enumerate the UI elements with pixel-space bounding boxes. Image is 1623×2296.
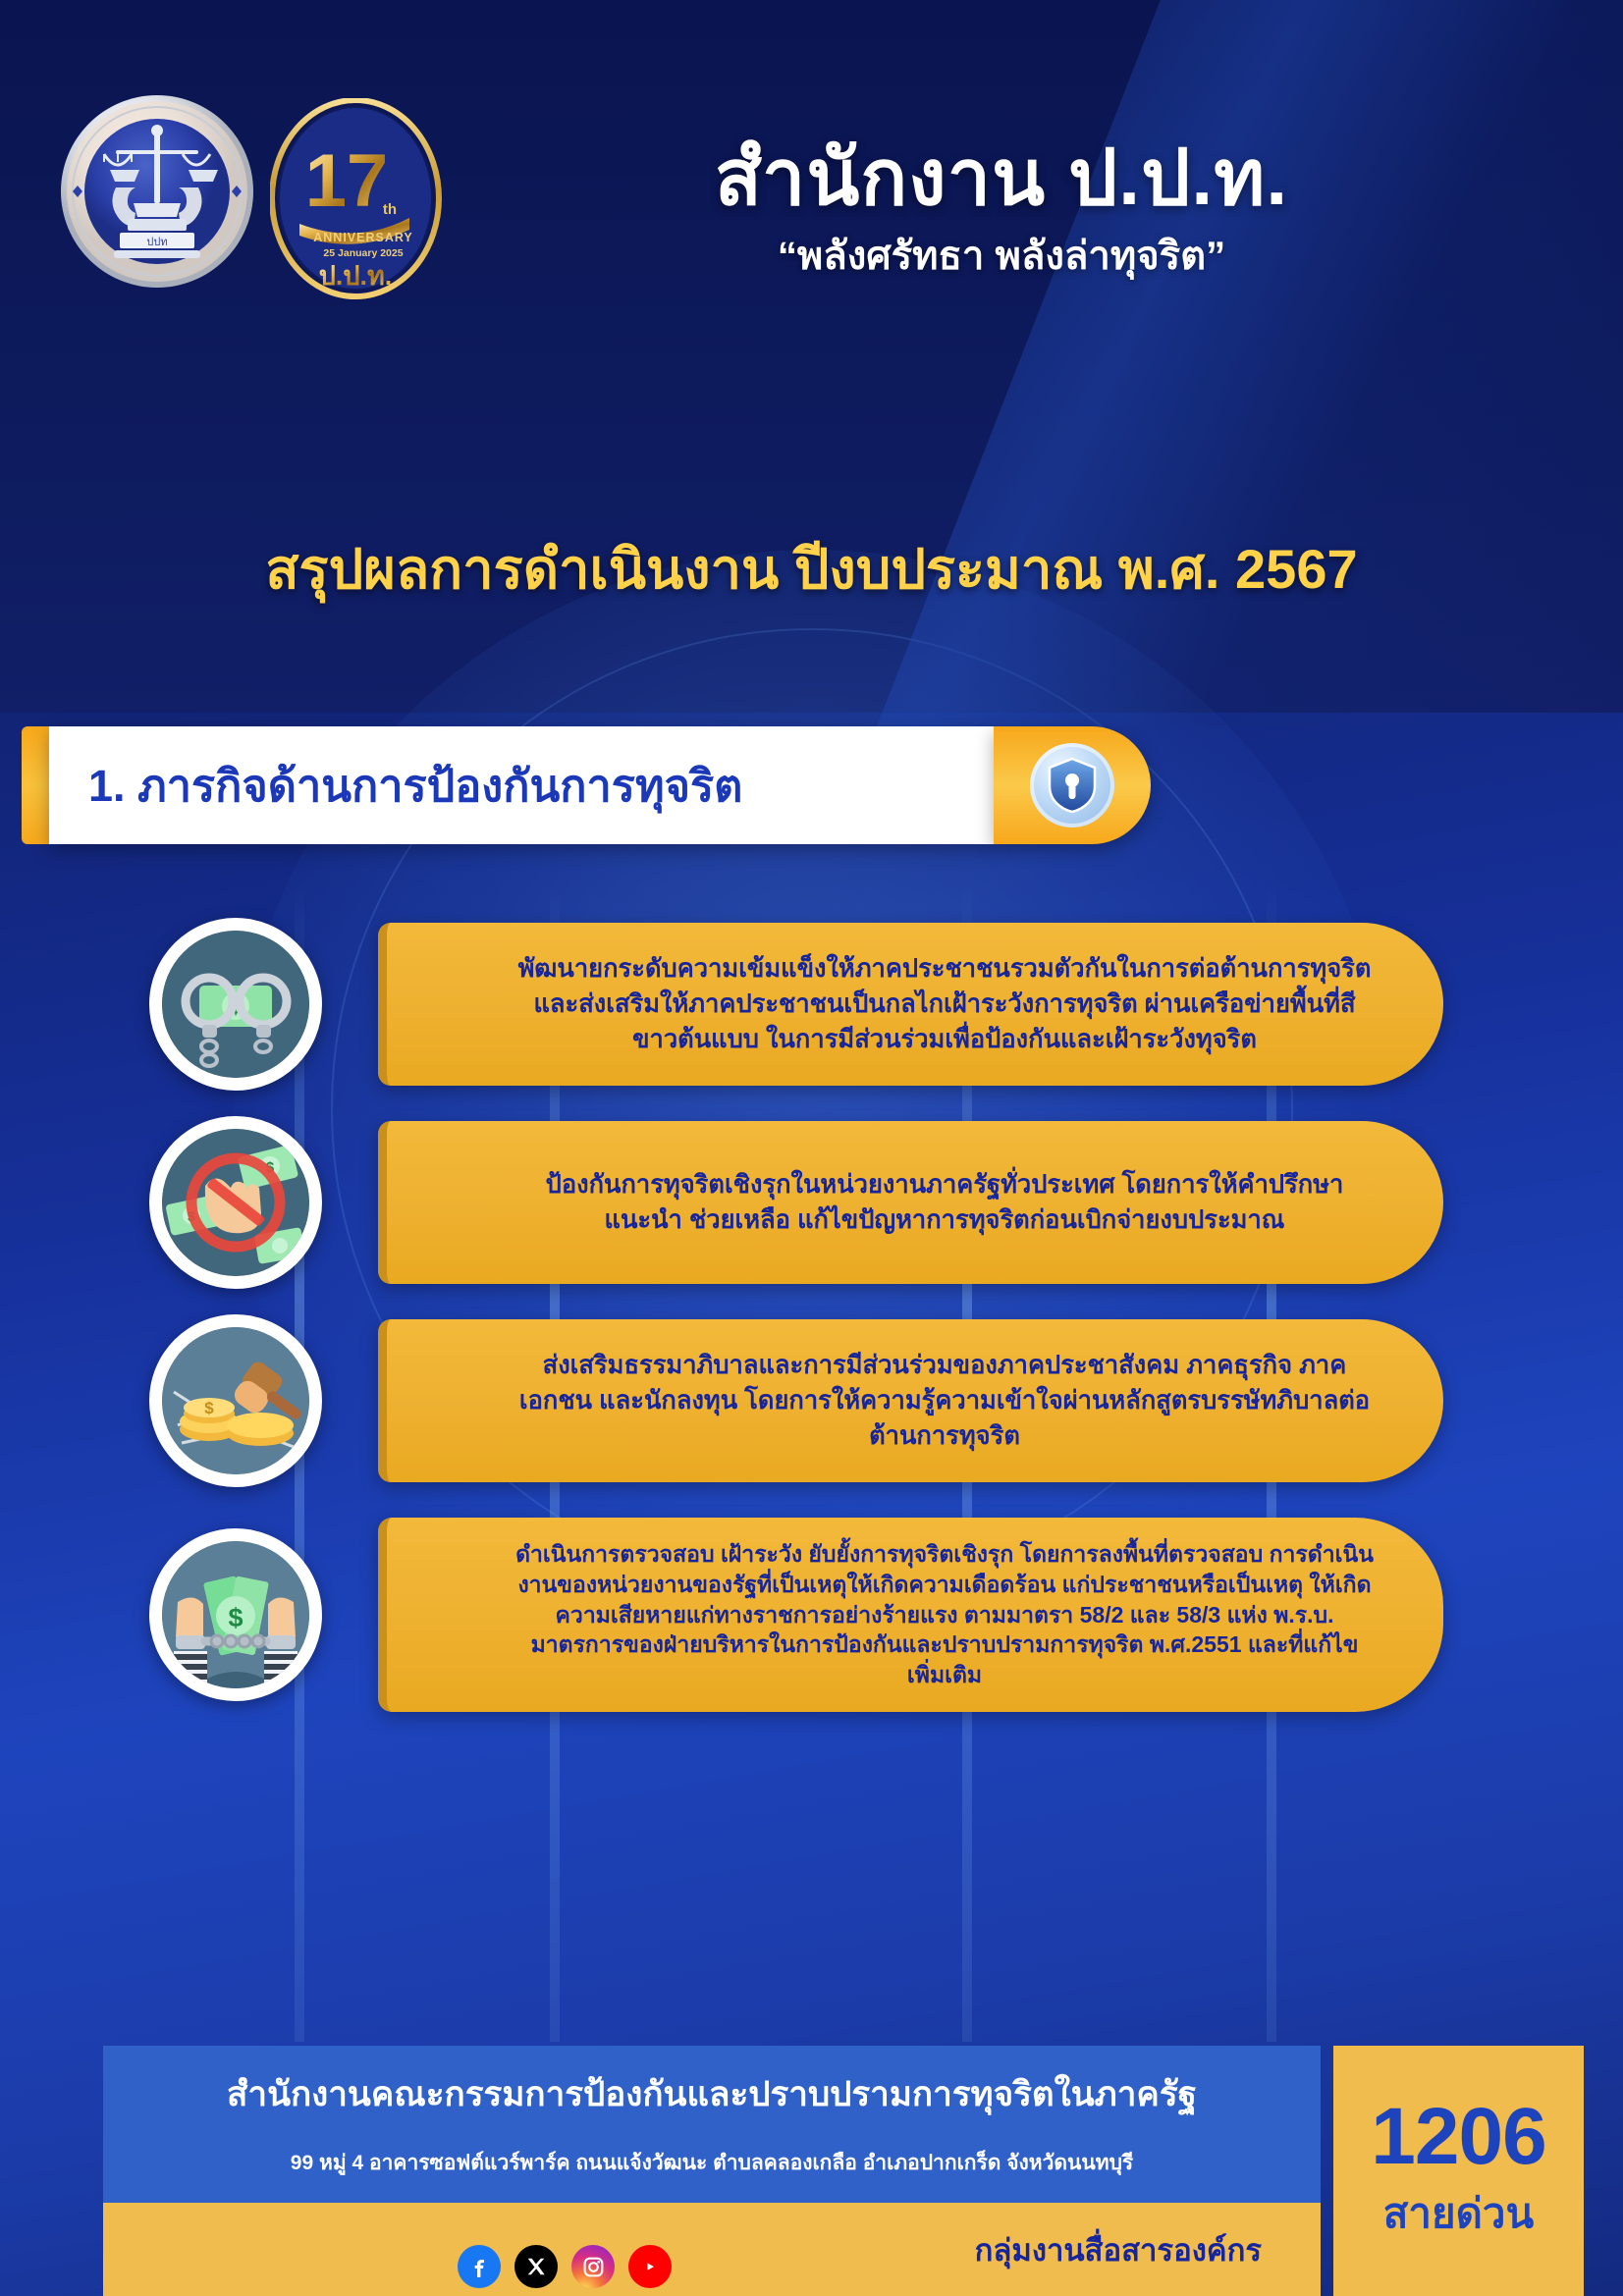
poster-header: ปปท [0,0,1623,461]
section-icon-cap [994,726,1151,844]
mission-card-text: ป้องกันการทุจริตเชิงรุกในหน่วยงานภาครัฐท… [514,1167,1375,1238]
mission-card-list: $ พัฒนายกระดับความเข้มแข็งให้ภาคประชาชนร… [0,923,1623,1747]
infographic-poster: ปปท [0,0,1623,2296]
hotline-label: สายด่วน [1383,2181,1534,2246]
page-title: สรุปผลการดำเนินงาน ปีงบประมาณ พ.ศ. 2567 [0,525,1623,613]
handcuffed-hands-money-icon: $ [149,1528,322,1701]
svg-text:$: $ [204,1399,214,1417]
section-title-plate: 1. ภารกิจด้านการป้องกันการทุจริต [49,726,994,844]
brand-title-block: สำนักงาน ป.ป.ท. “พลังศรัทธา พลังล่าทุจริ… [471,137,1532,287]
facebook-icon[interactable] [458,2245,501,2288]
footer-org-name: สำนักงานคณะกรรมการป้องกันและปราบปรามการท… [142,2067,1281,2121]
gavel-coins-icon: $ [149,1314,322,1487]
hotline-box: 1206 สายด่วน [1333,2046,1584,2296]
anniversary-date: 25 January 2025 [323,247,403,259]
svg-text:$: $ [228,1603,243,1632]
mission-card-body: ป้องกันการทุจริตเชิงรุกในหน่วยงานภาครัฐท… [378,1121,1443,1284]
mission-card: $ [0,1518,1623,1712]
footer-info-panel: สำนักงานคณะกรรมการป้องกันและปราบปรามการท… [103,2046,1321,2203]
mission-card: $ $ ป้องกันการทุจริตเชิงรุกในหน่วยงานภาค… [0,1121,1623,1284]
brand-title: สำนักงาน ป.ป.ท. [471,137,1532,218]
svg-text:ปปท: ปปท [146,237,167,248]
mission-card-body: พัฒนายกระดับความเข้มแข็งให้ภาคประชาชนรวม… [378,923,1443,1086]
anniversary-badge: 17 th ANNIVERSARY 25 January 2025 ป.ป.ท. [270,98,442,299]
mission-card-body: ดำเนินการตรวจสอบ เฝ้าระวัง ยับยั้งการทุจ… [378,1518,1443,1712]
anniversary-ordinal: th [383,201,397,218]
youtube-icon[interactable] [628,2245,672,2288]
x-twitter-icon[interactable] [514,2245,558,2288]
instagram-icon[interactable] [571,2245,615,2288]
brand-tagline: “พลังศรัทธา พลังล่าทุจริต” [471,224,1532,287]
mission-card-text: ส่งเสริมธรรมาภิบาลและการมีส่วนร่วมของภาค… [514,1348,1375,1455]
anniversary-org-abbr: ป.ป.ท. [319,261,393,291]
shield-icon [1030,743,1114,828]
anniversary-label: ANNIVERSARY [313,231,413,244]
hotline-number: 1206 [1371,2097,1545,2177]
mission-card: $ พัฒนายกระดับความเข้มแข็งให้ภาคประชาชนร… [0,923,1623,1086]
poster-footer: สำนักงานคณะกรรมการป้องกันและปราบปรามการท… [0,2046,1623,2296]
pacc-seal-icon: ปปท [59,93,255,290]
stop-hand-money-icon: $ $ [149,1116,322,1289]
mission-card: $ ส่งเสริมธรรมาภิบาลและการมีส่วนร่วมของภ… [0,1319,1623,1482]
handcuffs-money-icon: $ [149,918,322,1091]
social-links: #PRPACC [0,2245,1321,2288]
section-title: 1. ภารกิจด้านการป้องกันการทุจริต [88,750,742,821]
anniversary-number: 17 [305,139,389,223]
mission-card-text: พัฒนายกระดับความเข้มแข็งให้ภาคประชาชนรวม… [514,951,1375,1058]
mission-card-body: ส่งเสริมธรรมาภิบาลและการมีส่วนร่วมของภาค… [378,1319,1443,1482]
hashtag-label: #PRPACC [699,2248,863,2286]
footer-address: 99 หมู่ 4 อาคารซอฟต์แวร์พาร์ค ถนนแจ้งวัฒ… [142,2147,1281,2179]
mission-card-text: ดำเนินการตรวจสอบ เฝ้าระวัง ยับยั้งการทุจ… [514,1539,1375,1690]
section-accent-tab [22,726,49,844]
section-header-bar: 1. ภารกิจด้านการป้องกันการทุจริต [22,726,1151,844]
